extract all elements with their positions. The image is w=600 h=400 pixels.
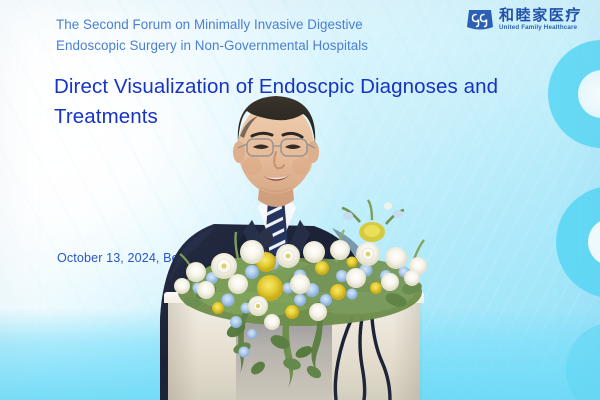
event-photo: The Second Forum on Minimally Invasive D… <box>0 0 600 400</box>
floral-arrangement <box>0 0 600 400</box>
